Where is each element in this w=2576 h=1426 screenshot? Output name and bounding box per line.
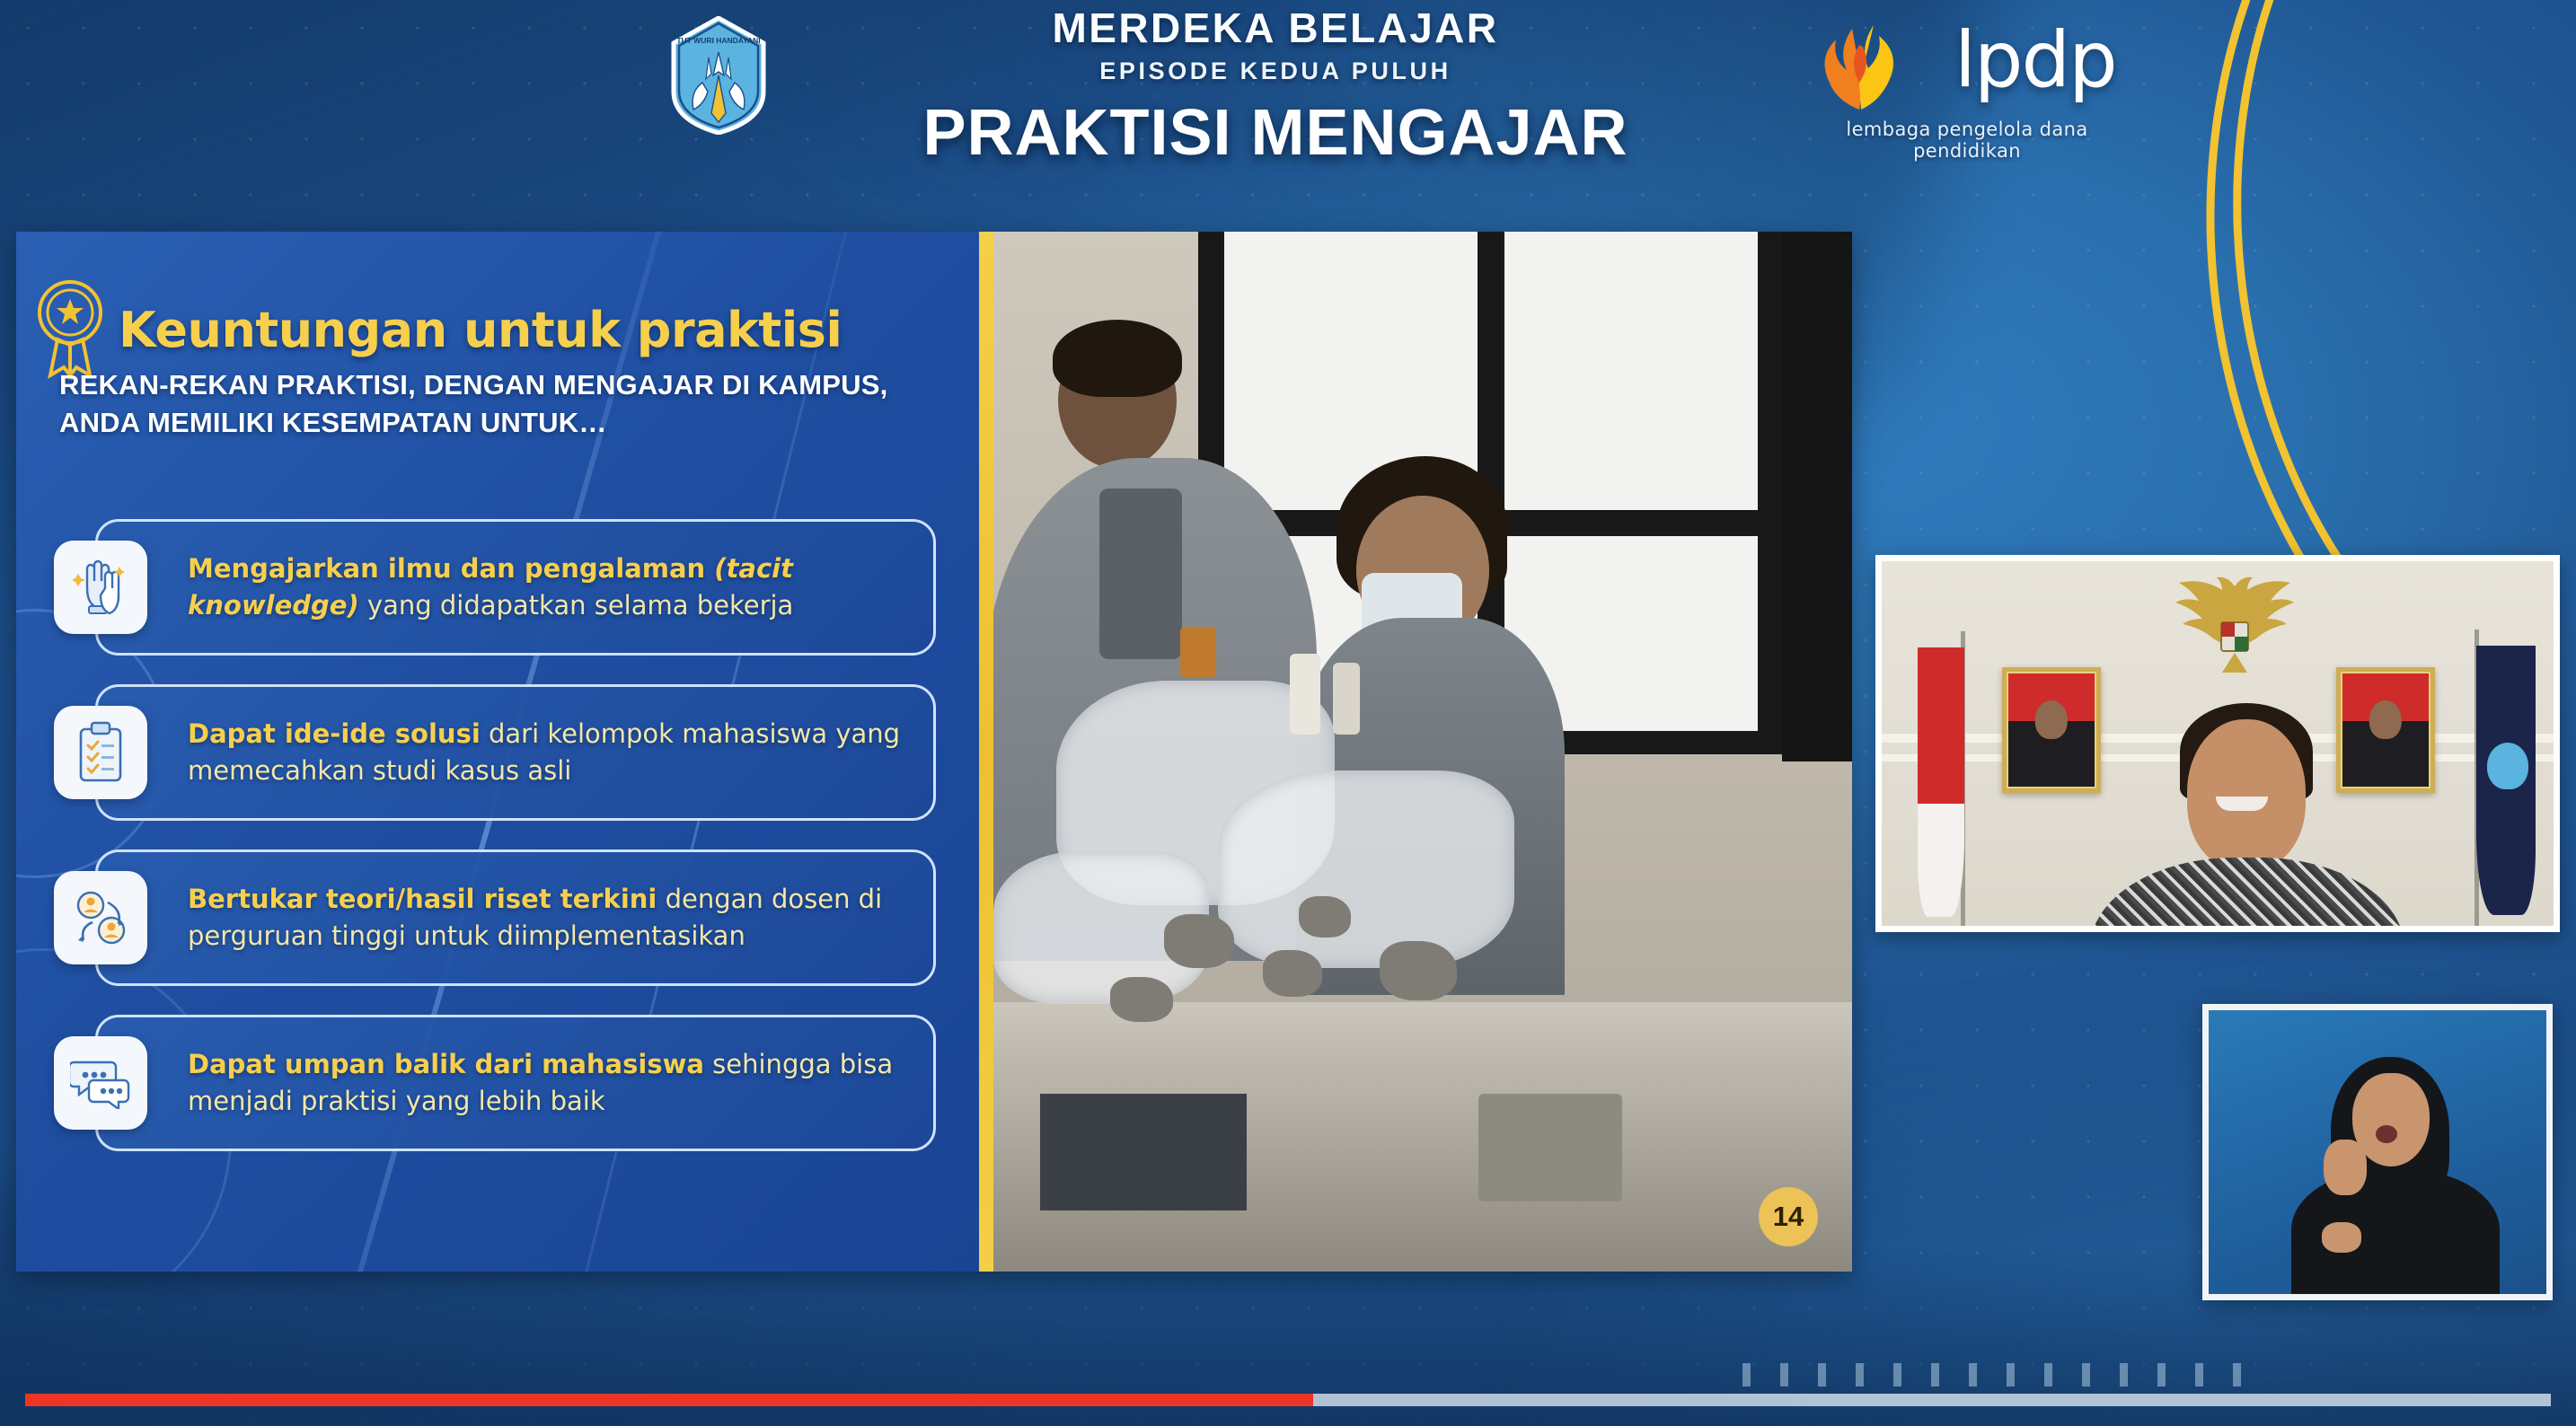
bullet-text: Mengajarkan ilmu dan pengalaman (tacit k… [188,550,903,624]
decorative-tick-row [1742,1363,2241,1386]
list-item: Mengajarkan ilmu dan pengalaman (tacit k… [34,519,968,656]
main-speaker-video[interactable] [1875,555,2560,932]
kemdikbud-logo-icon: TUT WURI HANDAYANI [666,16,771,135]
broadcast-header: TUT WURI HANDAYANI MERDEKA BELAJAR EPISO… [0,0,2576,189]
bullet-rest: yang didapatkan selama bekerja [359,590,794,621]
list-item: Dapat umpan balik dari mahasiswa sehingg… [34,1015,968,1151]
lpdp-flame-icon [1796,23,1949,117]
workshop-students-photo: 14 [993,232,1852,1272]
slide-content-panel: Keuntungan untuk praktisi REKAN-REKAN PR… [16,232,979,1272]
bullet-bold: Bertukar teori/hasil riset terkini [188,884,657,914]
bullet-text: Dapat umpan balik dari mahasiswa sehingg… [188,1046,903,1120]
raised-hands-icon [54,541,147,634]
president-portrait-frame [2002,667,2101,793]
slide-number-badge: 14 [1759,1187,1818,1246]
header-title-block: MERDEKA BELAJAR EPISODE KEDUA PULUH PRAK… [880,4,1671,170]
sign-language-interpreter-video[interactable] [2202,1004,2553,1300]
bullet-card: Dapat umpan balik dari mahasiswa sehingg… [95,1015,936,1151]
svg-text:TUT WURI HANDAYANI: TUT WURI HANDAYANI [676,36,760,45]
garuda-emblem-icon [2167,570,2302,701]
list-item: Bertukar teori/hasil riset terkini denga… [34,849,968,986]
header-main-title: PRAKTISI MENGAJAR [880,96,1671,170]
bullet-card: Bertukar teori/hasil riset terkini denga… [95,849,936,986]
header-episode-label: EPISODE KEDUA PULUH [880,57,1671,85]
lpdp-tagline: lembaga pengelola dana pendidikan [1796,119,2138,162]
video-progress-bar[interactable] [25,1394,2551,1406]
header-program-title: MERDEKA BELAJAR [880,4,1671,52]
bullet-card: Mengajarkan ilmu dan pengalaman (tacit k… [95,519,936,656]
bullet-text: Dapat ide-ide solusi dari kelompok mahas… [188,716,903,789]
bullet-card: Dapat ide-ide solusi dari kelompok mahas… [95,684,936,821]
clipboard-checklist-icon [54,706,147,799]
bullet-text: Bertukar teori/hasil riset terkini denga… [188,881,903,955]
slide-bullet-list: Mengajarkan ilmu dan pengalaman (tacit k… [34,519,968,1180]
people-exchange-icon [54,871,147,964]
bullet-bold: Dapat umpan balik dari mahasiswa [188,1049,704,1079]
lpdp-wordmark: lpdp [1954,22,2116,99]
presentation-slide: Keuntungan untuk praktisi REKAN-REKAN PR… [16,232,1852,1272]
bullet-bold: Dapat ide-ide solusi [188,718,481,749]
bullet-bold: Mengajarkan ilmu dan pengalaman [188,553,714,584]
slide-gold-divider [979,232,993,1272]
video-player-stage: TUT WURI HANDAYANI MERDEKA BELAJAR EPISO… [0,0,2576,1426]
slide-title: Keuntungan untuk praktisi [119,302,842,358]
video-played-bar [25,1394,1313,1406]
vice-president-portrait-frame [2336,667,2435,793]
slide-subtitle: REKAN-REKAN PRAKTISI, DENGAN MENGAJAR DI… [59,366,922,442]
chat-bubbles-icon [54,1036,147,1130]
list-item: Dapat ide-ide solusi dari kelompok mahas… [34,684,968,821]
lpdp-logo: lpdp lembaga pengelola dana pendidikan [1796,16,2138,142]
